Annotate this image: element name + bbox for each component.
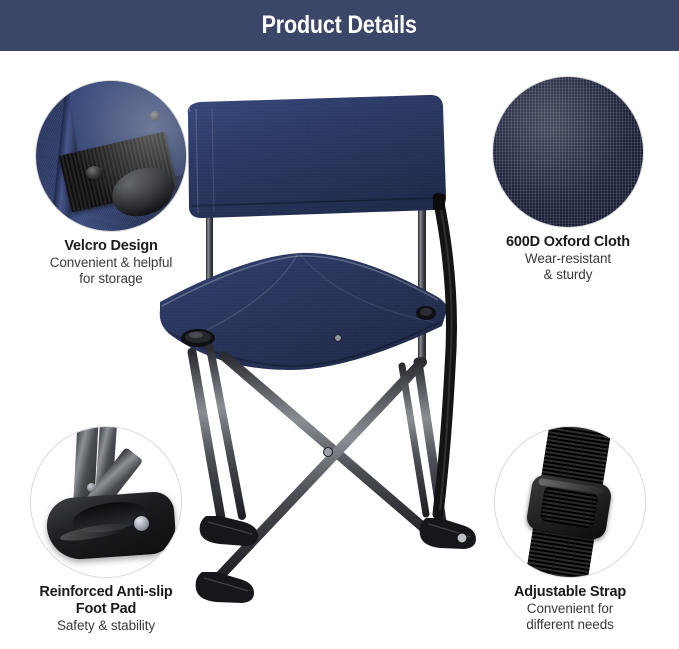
foot-pad-title-line1: Reinforced Anti-slip <box>1 584 211 601</box>
feature-callout-foot-pad: Reinforced Anti-slip Foot Pad Safety & s… <box>1 426 211 634</box>
strap-title: Adjustable Strap <box>465 584 675 601</box>
page-title: Product Details <box>262 11 417 40</box>
oxford-title: 600D Oxford Cloth <box>463 234 673 251</box>
oxford-subtitle-line1: Wear-resistant <box>463 251 673 267</box>
leg-tube-screw <box>87 483 96 492</box>
velcro-highlight <box>36 81 186 231</box>
oxford-subtitle-line2: & sturdy <box>463 267 673 283</box>
oxford-caption: 600D Oxford Cloth Wear-resistant & sturd… <box>463 234 673 283</box>
velcro-subtitle-line2: for storage <box>6 271 216 287</box>
foot-pad-subtitle-line1: Safety & stability <box>1 618 211 634</box>
velcro-title: Velcro Design <box>6 238 216 255</box>
feature-callout-velcro: Velcro Design Convenient & helpful for s… <box>6 80 216 287</box>
velcro-caption: Velcro Design Convenient & helpful for s… <box>6 238 216 287</box>
foot-pad-caption: Reinforced Anti-slip Foot Pad Safety & s… <box>1 584 211 634</box>
chair-backrest <box>188 94 446 218</box>
adjustable-strap-closeup-photo <box>494 426 646 578</box>
strap-subtitle-line2: different needs <box>465 617 675 633</box>
foot-pad-closeup-photo <box>30 426 182 578</box>
feature-callout-adjustable-strap: Adjustable Strap Convenient for differen… <box>465 426 675 633</box>
strap-subtitle-line1: Convenient for <box>465 601 675 617</box>
foot-pad-rivet <box>133 515 150 532</box>
velcro-closeup-photo <box>35 80 187 232</box>
oxford-highlight <box>493 77 643 227</box>
strap-caption: Adjustable Strap Convenient for differen… <box>465 584 675 633</box>
velcro-subtitle-line1: Convenient & helpful <box>6 255 216 271</box>
oxford-cloth-closeup-photo <box>492 76 644 228</box>
foot-pad-title-line2: Foot Pad <box>1 601 211 618</box>
feature-callout-oxford-cloth: 600D Oxford Cloth Wear-resistant & sturd… <box>463 76 673 283</box>
anti-slip-foot-pad <box>45 491 177 562</box>
header-banner: Product Details <box>0 0 679 51</box>
